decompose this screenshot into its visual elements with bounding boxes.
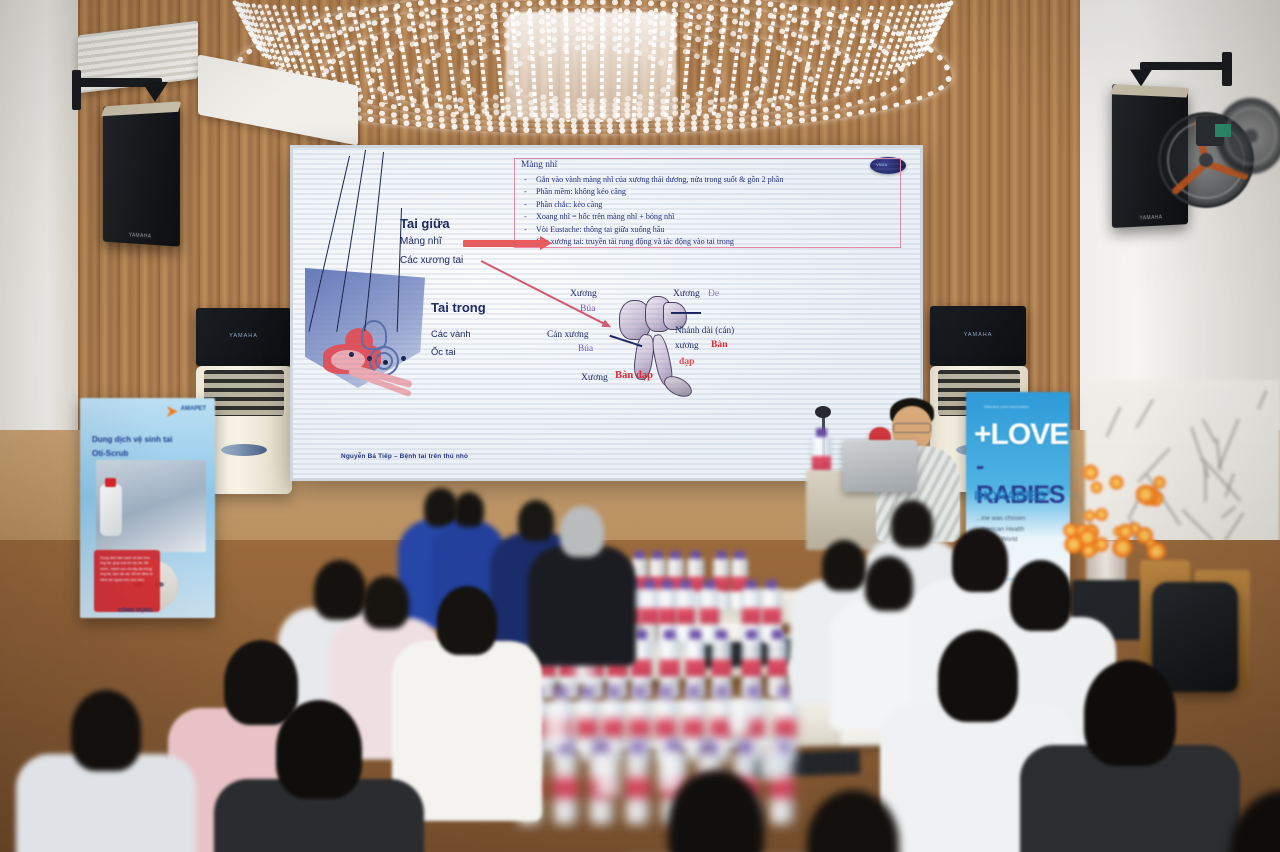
ossicles-illustration	[615, 296, 701, 408]
label-incus: Xương	[673, 288, 700, 299]
speaker-wallplate-left	[72, 70, 81, 110]
leader-dot	[383, 360, 388, 365]
ossicle-leader	[671, 312, 701, 314]
bottle-cap	[816, 428, 827, 437]
label-cochlea: Ốc tai	[431, 346, 456, 357]
label-incus-2: Đe	[708, 288, 719, 299]
yamaha-speaker-right: YAMAHA	[930, 306, 1026, 366]
audience-torso	[528, 546, 636, 666]
bottle-cap	[715, 687, 728, 697]
banner-left-photo	[96, 460, 206, 552]
chandelier-bead-strand	[599, 8, 604, 122]
audience-member	[740, 790, 966, 852]
bottle-cap	[581, 687, 594, 697]
bullet-item: Vòi Eustache: thông tai giữa xuống hầu	[519, 224, 899, 235]
bottle-label	[762, 608, 781, 624]
bamboo-leaf-stroke	[1220, 505, 1236, 519]
banner-right-love: +LOVE	[974, 418, 1068, 452]
label-inner-ear: Tai trong	[431, 300, 486, 315]
bullet-item: Gắn vào vành màng nhĩ của xương thái dươ…	[519, 174, 899, 185]
banner-right-brand: BIORABIES®	[974, 488, 1051, 503]
stapes-footplate-shape	[661, 372, 695, 401]
bottle-label	[685, 660, 705, 677]
label-eardrum: Màng nhĩ	[400, 236, 442, 247]
bamboo-leaf-stroke	[1182, 509, 1214, 541]
label-malleus-handle: Cán xương	[547, 330, 589, 340]
orange-flower	[1091, 481, 1103, 493]
speaker-yoke-left	[142, 82, 168, 102]
bottle-cap	[746, 580, 757, 589]
yamaha-label-right: YAMAHA	[964, 332, 993, 338]
brand-mark: ®	[1046, 490, 1051, 497]
audience-member	[528, 506, 636, 670]
presenter-laptop[interactable]	[843, 440, 917, 492]
red-arrow-to-textbox	[463, 240, 541, 247]
bottle-cap	[690, 630, 702, 640]
bottle-cap-icon	[105, 478, 116, 487]
bottle-cap	[636, 630, 648, 640]
audience-member	[214, 700, 424, 852]
ac-grille-left	[204, 370, 285, 416]
bottle-cap	[747, 687, 760, 697]
banner-left-title-2: Oti-Scrub	[92, 448, 212, 459]
bamboo-leaf-stroke	[1201, 419, 1216, 444]
amapet-logo: AMAPET	[181, 406, 206, 412]
audience-head	[1010, 560, 1072, 631]
bottle-cap	[652, 551, 662, 559]
bottle-cap	[633, 687, 646, 697]
bottle-cap	[734, 551, 744, 559]
banner-left-footer: CÔNG DỤNG	[118, 608, 153, 614]
bottle-cap	[716, 551, 726, 559]
audience-head	[1230, 790, 1280, 852]
yamaha-label-left: YAMAHA	[229, 333, 258, 339]
ac-logo-left	[221, 444, 267, 456]
audience-head	[1084, 660, 1176, 766]
banner-left-otiscrub[interactable]: AMAPET Dung dịch vệ sinh tai Oti-Scrub D…	[80, 398, 215, 618]
bottle-cap	[555, 687, 568, 697]
bottle-label	[683, 719, 705, 737]
orange-flower	[1095, 509, 1108, 522]
bottle-label	[659, 660, 679, 677]
audience-head	[454, 492, 484, 527]
bamboo-leaf-stroke	[1257, 390, 1267, 410]
bottle-label	[603, 719, 625, 737]
banner-right-pretext: Effective post vaccination	[984, 404, 1029, 409]
audience-head	[938, 630, 1018, 722]
bottle-cap	[738, 741, 752, 753]
fan-hub-2	[1244, 129, 1258, 143]
bottle-cap	[690, 551, 700, 559]
slide-bullet-list: Gắn vào vành màng nhĩ của xương thái dươ…	[519, 174, 899, 248]
bamboo-leaf-stroke	[1135, 399, 1154, 429]
bottle-cap	[607, 687, 620, 697]
bullet-item: Phần mềm: không kéo căng	[519, 186, 899, 197]
presenter-glasses-icon	[893, 423, 931, 433]
bottle-cap	[702, 741, 716, 753]
brand-text: BIORABIES	[974, 488, 1046, 503]
bottle-label	[655, 719, 677, 737]
yamaha-speaker-left: YAMAHA	[196, 308, 291, 366]
label-long-branch: Nhánh dài (cán)	[675, 325, 734, 335]
speaker-yoke-right	[1130, 70, 1152, 87]
slide-caption: Nguyễn Bá Tiếp – Bệnh tai trên thú nhỏ	[341, 453, 468, 460]
orange-flower	[1084, 510, 1095, 521]
orange-flower	[1109, 475, 1123, 489]
bottle-label	[700, 608, 719, 624]
banner-left-title-1: Dung dịch vệ sinh tai	[92, 434, 212, 445]
audience-head	[437, 586, 497, 655]
drinking-glass	[546, 710, 570, 747]
bottle-label	[658, 608, 677, 624]
orange-flower-bouquet	[1060, 460, 1170, 560]
audience-head	[71, 690, 141, 771]
label-long-branch-4: đạp	[679, 356, 694, 367]
microphone-head-icon	[815, 406, 831, 418]
label-stapes-2: Bàn đạp	[615, 370, 653, 381]
label-stapes: Xương	[581, 372, 608, 383]
label-long-branch-2: xương	[675, 340, 699, 350]
bottle-cap	[680, 580, 691, 589]
speaker-wallplate-right	[1222, 52, 1232, 86]
label-canals: Các vành	[431, 328, 471, 339]
bottle-cap	[772, 630, 784, 640]
banner-right-body-line: ...ine was chosen	[976, 514, 1068, 525]
speaker-brand-right: YAMAHA	[1139, 215, 1162, 222]
banner-left-body: Dung dịch làm sạch và làm khô ống tai, g…	[100, 556, 154, 583]
bottle-cap	[644, 580, 655, 589]
audience-head	[276, 700, 362, 799]
ear-anatomy-illustration	[305, 268, 485, 443]
speaker-arm-right	[1140, 62, 1226, 70]
bottle-label	[767, 660, 787, 677]
leader-dot	[367, 356, 372, 361]
bottle-cap	[630, 741, 644, 753]
slide-box-title: Màng nhĩ	[521, 160, 557, 170]
fan-sticker	[1215, 124, 1231, 137]
bottle-cap	[716, 630, 728, 640]
left-white-wall	[0, 0, 78, 470]
bottle-label	[676, 608, 695, 624]
bullet-item: Các xương tai: truyền tải rung động và t…	[519, 236, 899, 247]
bottle-label	[640, 608, 659, 624]
seminar-room-photo: YAMAHA YAMAHA YAMAHA YAMAHA	[0, 0, 1280, 852]
bullet-item: Phần chắc: kéo căng	[519, 199, 899, 210]
leader-dot	[349, 352, 354, 357]
orange-flower	[1147, 542, 1166, 561]
label-middle-ear: Tai giữa	[400, 216, 450, 231]
audience-head	[560, 506, 604, 557]
orange-flower	[1083, 465, 1099, 481]
water-bottle	[683, 696, 705, 760]
bottle-product-icon	[100, 484, 122, 536]
orange-flower	[1117, 524, 1133, 540]
label-long-branch-3: Bàn	[711, 339, 728, 350]
drinking-glass	[729, 698, 752, 733]
water-bottle	[553, 752, 578, 825]
bamboo-leaf-stroke	[1105, 407, 1121, 439]
bottle-cap	[664, 630, 676, 640]
bottle-cap	[766, 580, 777, 589]
orange-flower	[1153, 476, 1165, 488]
bullet-item: Xoang nhĩ = hốc trên màng nhĩ + bóng nhĩ	[519, 211, 899, 222]
leader-dot	[401, 356, 406, 361]
audience-head	[807, 790, 899, 852]
wall-speaker-left: YAMAHA	[103, 101, 180, 246]
banner-left-text-block: Dung dịch làm sạch và làm khô ống tai, g…	[94, 550, 160, 612]
bottle-cap	[687, 687, 700, 697]
bamboo-leaf-stroke	[1223, 512, 1245, 542]
bamboo-leaf-stroke	[1203, 467, 1206, 502]
audience-member	[16, 690, 196, 852]
bottle-cap	[662, 580, 673, 589]
bottle-cap	[704, 580, 715, 589]
audience-member	[1160, 790, 1280, 852]
bottle-label	[742, 608, 761, 624]
bottle-label	[577, 719, 599, 737]
bottle-label	[775, 719, 797, 737]
bamboo-leaf-stroke	[1190, 426, 1210, 478]
bamboo-leaf-stroke	[1217, 418, 1240, 469]
bottle-cap	[670, 551, 680, 559]
bottle-label	[741, 660, 761, 677]
label-malleus: Xương	[570, 288, 597, 299]
label-malleus-handle-2: Búa	[578, 344, 593, 354]
orange-flower	[1113, 538, 1133, 558]
label-ear-bones: Các xương tai	[400, 255, 463, 266]
bottle-label	[711, 660, 731, 677]
audience-head	[865, 556, 913, 611]
orange-flower	[1065, 536, 1083, 554]
fan-hub-1	[1199, 153, 1213, 167]
speaker-brand-left: YAMAHA	[129, 232, 152, 239]
bottle-cap	[659, 687, 672, 697]
bottle-cap	[594, 741, 608, 753]
bottle-label	[629, 719, 651, 737]
bottle-cap	[746, 630, 758, 640]
bottle-label	[553, 778, 578, 799]
